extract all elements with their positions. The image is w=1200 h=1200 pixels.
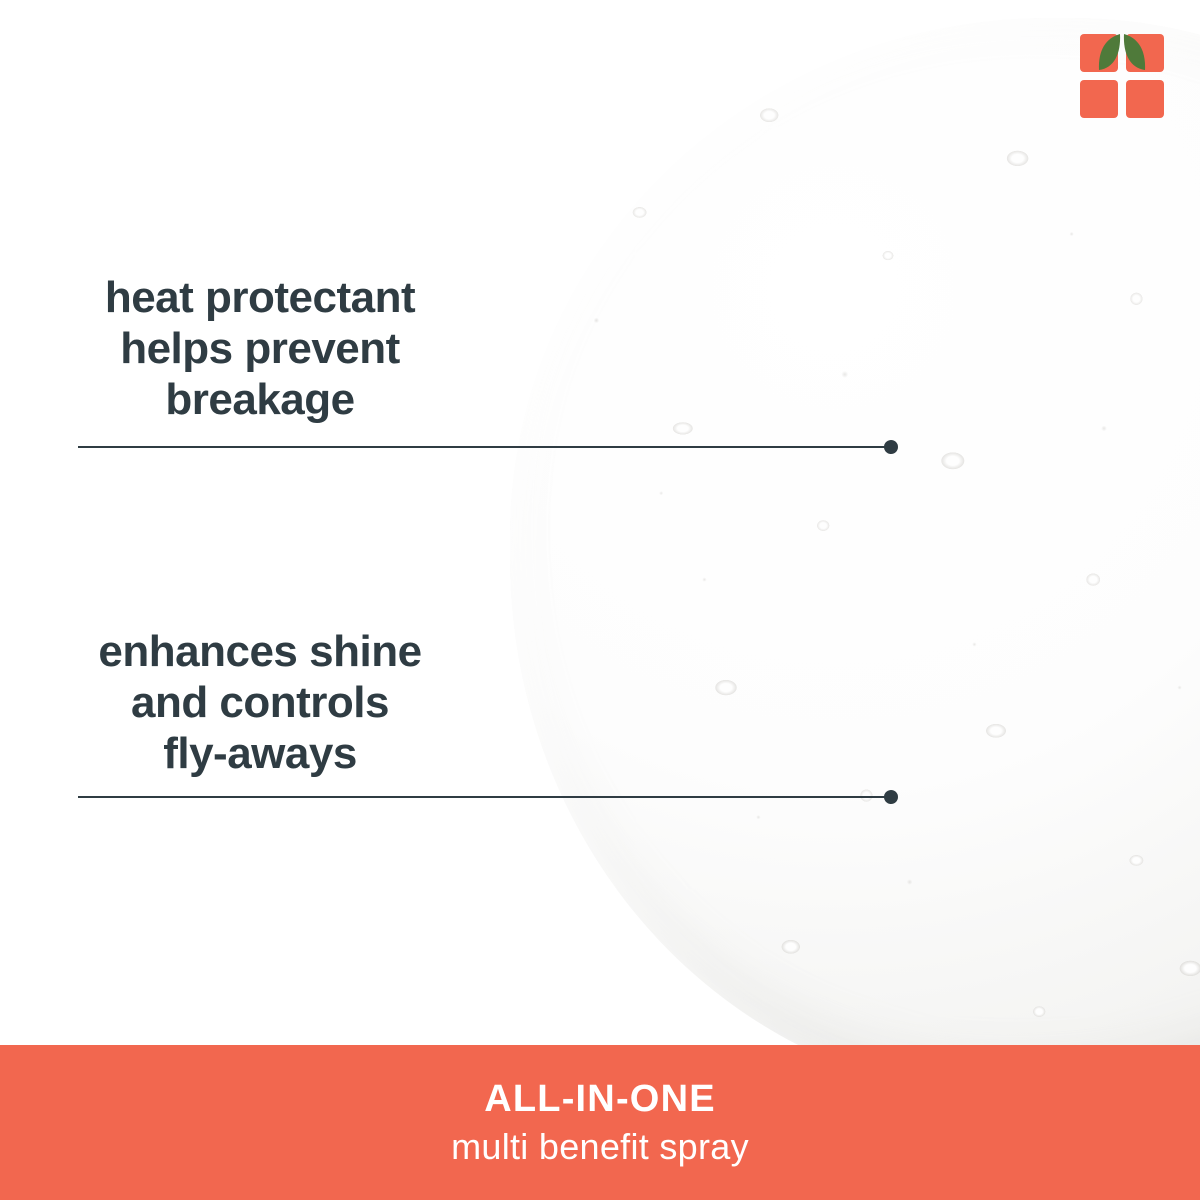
product-texture-blob [510, 18, 1200, 1045]
callout-shine: enhances shine and controls fly-aways [0, 626, 520, 779]
leader-dot [884, 440, 898, 454]
leader-line-stroke [78, 446, 890, 448]
leader-line-heat-protectant [78, 440, 898, 454]
callout-heat-protectant: heat protectant helps prevent breakage [0, 272, 520, 425]
bottom-banner: ALL-IN-ONE multi benefit spray [0, 1045, 1200, 1200]
product-feature-poster: heat protectant helps prevent breakage e… [0, 0, 1200, 1200]
leader-line-shine [78, 790, 898, 804]
leader-line-stroke [78, 796, 890, 798]
banner-title: ALL-IN-ONE [484, 1079, 716, 1121]
product-image [500, 0, 1200, 1045]
banner-subtitle: multi benefit spray [451, 1127, 749, 1167]
callout-heat-protectant-text: heat protectant helps prevent breakage [0, 272, 520, 425]
leader-dot [884, 790, 898, 804]
callout-shine-text: enhances shine and controls fly-aways [0, 626, 520, 779]
brand-logo [1076, 30, 1168, 122]
